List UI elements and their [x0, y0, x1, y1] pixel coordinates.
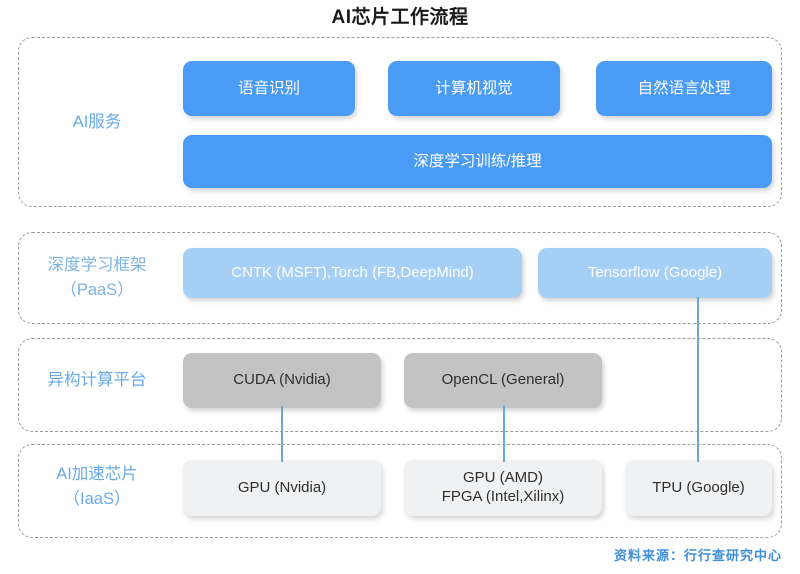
node-label: 语音识别 — [238, 79, 300, 98]
node-label: GPU (AMD) FPGA (Intel,Xilinx) — [442, 469, 565, 507]
node-opencl[interactable]: OpenCL (General) — [404, 353, 602, 408]
node-computer-vision[interactable]: 计算机视觉 — [388, 61, 560, 116]
node-cntk-torch[interactable]: CNTK (MSFT),Torch (FB,DeepMind) — [183, 248, 522, 298]
node-label: CUDA (Nvidia) — [233, 371, 331, 390]
node-natural-language-processing[interactable]: 自然语言处理 — [596, 61, 772, 116]
connector-opencl-to-gpu-amd — [503, 406, 505, 462]
node-label: 计算机视觉 — [435, 79, 513, 98]
layer-label-deep-learning-framework: 深度学习框架 （PaaS） — [17, 253, 177, 303]
node-label: GPU (Nvidia) — [238, 479, 326, 498]
node-label: CNTK (MSFT),Torch (FB,DeepMind) — [231, 264, 474, 283]
node-gpu-amd-fpga[interactable]: GPU (AMD) FPGA (Intel,Xilinx) — [404, 460, 602, 516]
node-gpu-nvidia[interactable]: GPU (Nvidia) — [183, 460, 381, 516]
node-label: OpenCL (General) — [442, 371, 565, 390]
source-note: 资料来源：行行查研究中心 — [614, 545, 782, 564]
node-label: 深度学习训练/推理 — [413, 152, 541, 171]
node-cuda[interactable]: CUDA (Nvidia) — [183, 353, 381, 408]
connector-cuda-to-gpu-nvidia — [281, 406, 283, 462]
node-label: TPU (Google) — [652, 479, 745, 498]
page-title: AI芯片工作流程 — [0, 2, 800, 29]
layer-label-ai-accelerator-chip: AI加速芯片 （IaaS） — [17, 462, 177, 512]
node-label: 自然语言处理 — [637, 79, 730, 98]
node-tpu-google[interactable]: TPU (Google) — [625, 460, 772, 516]
layer-label-heterogeneous-computing-platform: 异构计算平台 — [17, 368, 177, 393]
connector-tensorflow-to-tpu — [697, 297, 699, 462]
node-tensorflow[interactable]: Tensorflow (Google) — [538, 248, 772, 298]
diagram-canvas: AI芯片工作流程 AI服务 语音识别 计算机视觉 自然语言处理 深度学习训练/推… — [0, 0, 800, 574]
node-speech-recognition[interactable]: 语音识别 — [183, 61, 355, 116]
layer-label-ai-service: AI服务 — [22, 110, 172, 135]
node-deep-learning-training-inference[interactable]: 深度学习训练/推理 — [183, 135, 772, 188]
node-label: Tensorflow (Google) — [588, 264, 722, 283]
